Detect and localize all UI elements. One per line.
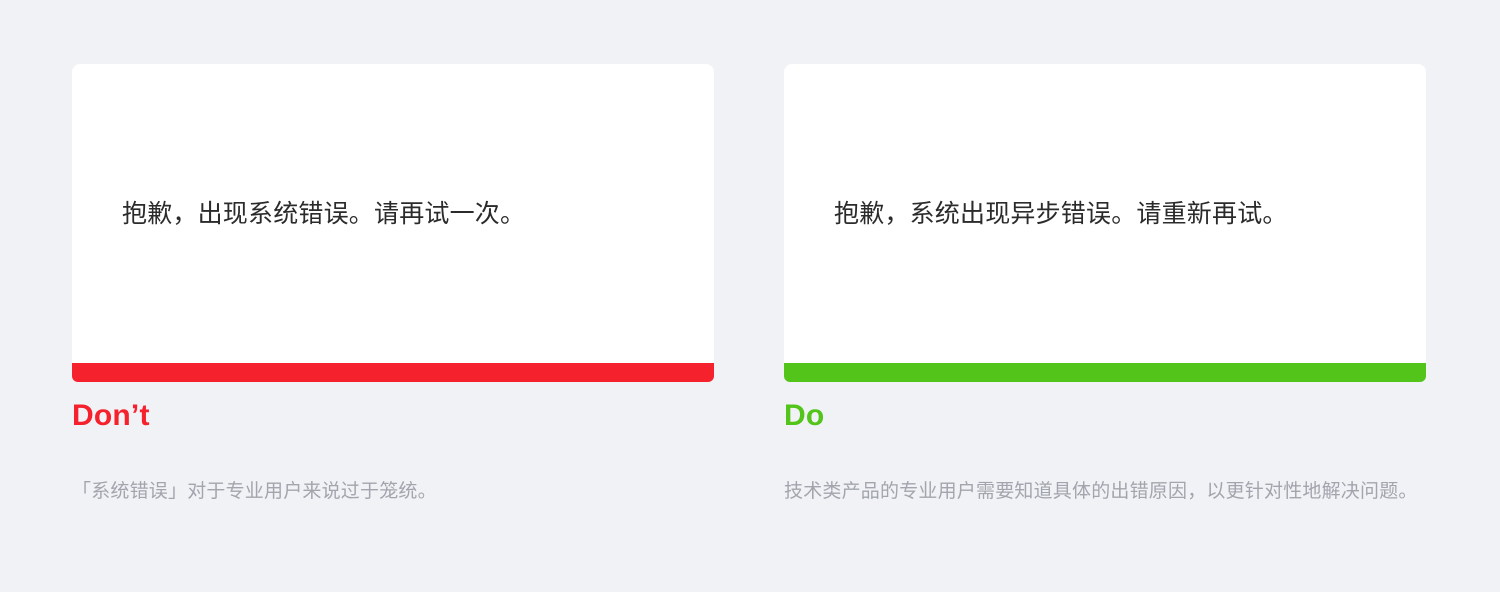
examples-row: 抱歉，出现系统错误。请再试一次。 Don’t 「系统错误」对于专业用户来说过于笼… <box>72 64 1426 512</box>
preview-card-do: 抱歉，系统出现异步错误。请重新再试。 <box>784 64 1426 363</box>
error-message-text-dont: 抱歉，出现系统错误。请再试一次。 <box>72 195 575 233</box>
example-column-dont: 抱歉，出现系统错误。请再试一次。 Don’t 「系统错误」对于专业用户来说过于笼… <box>72 64 714 512</box>
verdict-label-dont: Don’t <box>72 398 714 434</box>
status-bar-dont <box>72 363 714 382</box>
explanation-text-do: 技术类产品的专业用户需要知道具体的出错原因，以更针对性地解决问题。 <box>784 471 1436 512</box>
guideline-board: 抱歉，出现系统错误。请再试一次。 Don’t 「系统错误」对于专业用户来说过于笼… <box>0 0 1500 592</box>
explanation-text-dont: 「系统错误」对于专业用户来说过于笼统。 <box>72 471 724 512</box>
error-message-text-do: 抱歉，系统出现异步错误。请重新再试。 <box>784 195 1338 233</box>
preview-card-dont: 抱歉，出现系统错误。请再试一次。 <box>72 64 714 363</box>
status-bar-do <box>784 363 1426 382</box>
verdict-label-do: Do <box>784 398 1426 434</box>
example-column-do: 抱歉，系统出现异步错误。请重新再试。 Do 技术类产品的专业用户需要知道具体的出… <box>784 64 1426 512</box>
